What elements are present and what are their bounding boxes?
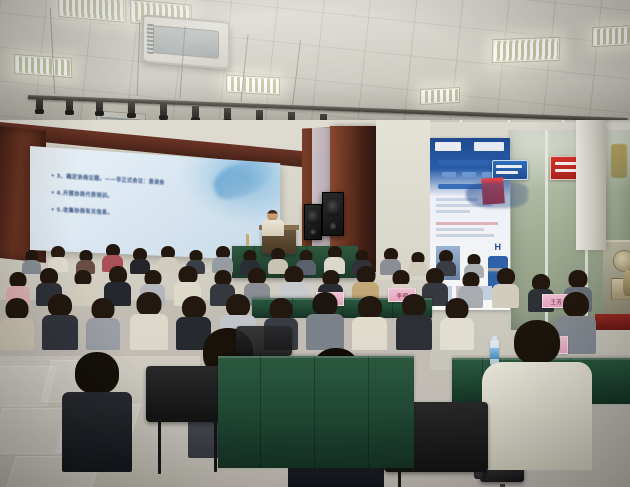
- bullet-dot-icon: [52, 174, 54, 176]
- bullet-dot-icon: [52, 208, 54, 210]
- audience-member: [62, 352, 132, 472]
- audience-member: [0, 298, 34, 350]
- pa-speaker-right: [322, 192, 344, 236]
- audience-torso: [62, 392, 132, 472]
- calligraphy-art: [466, 182, 528, 208]
- slide-bullet-text: 3、确定协商议题。——非正式会议：恳谈会: [57, 172, 165, 187]
- presenter-at-podium: [262, 210, 284, 234]
- audience-member: [396, 294, 432, 350]
- audience-torso: [482, 362, 592, 470]
- slide-bullet-text: 5.收集协商有关信息。: [57, 205, 113, 216]
- org-logo-icon: [435, 142, 461, 151]
- slide-bullet: 4.开展协商代表培训。: [52, 188, 272, 208]
- bullet-dot-icon: [52, 191, 54, 193]
- audience-head: [514, 320, 560, 364]
- audience-member: [86, 298, 120, 350]
- audience-member: [212, 246, 233, 273]
- green-skirted-table: [218, 356, 414, 468]
- folding-chair: [146, 366, 224, 422]
- chair-leg: [158, 418, 161, 474]
- audience-head: [75, 352, 119, 394]
- audience-member: [306, 292, 344, 350]
- folding-chair: [236, 326, 292, 356]
- audience-member: [130, 292, 168, 350]
- slide-bullet-text: 4.开展协商代表培训。: [57, 189, 113, 200]
- audience-member: [492, 268, 519, 308]
- org-logo-icon: [474, 142, 504, 151]
- chair-leg: [214, 418, 217, 472]
- pa-speaker-left: [304, 204, 322, 240]
- white-pillar: [576, 120, 606, 250]
- conference-room-photo: 3、确定协商议题。——非正式会议：恳谈会 4.开展协商代表培训。 5.收集协商有…: [0, 0, 630, 487]
- seated-audience: 张伟 李明 王芳: [0, 236, 630, 487]
- presenter-body: [262, 220, 284, 236]
- gold-wall-lettering: [611, 144, 627, 178]
- audience-member: [42, 294, 78, 350]
- audience-member: [352, 296, 387, 350]
- speaker-cone: [326, 198, 340, 217]
- chair-leg: [398, 468, 401, 487]
- speaker-cone: [307, 209, 319, 225]
- speaker-tweeter: [330, 222, 336, 230]
- audience-member: [482, 320, 592, 470]
- speaker-tweeter: [310, 229, 315, 235]
- audience-member: [440, 298, 474, 350]
- slide-bullet: 5.收集协商有关信息。: [52, 205, 272, 225]
